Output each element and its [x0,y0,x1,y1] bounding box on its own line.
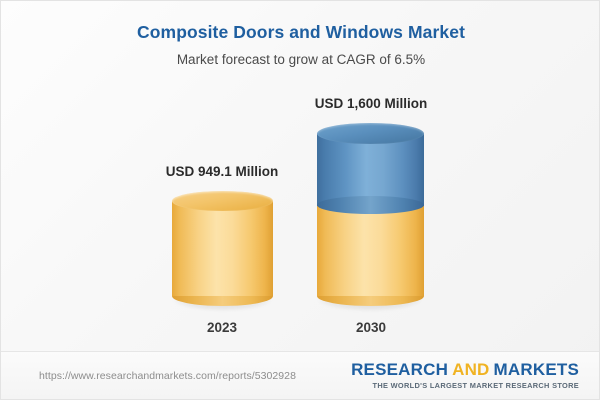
bar-value-label-2030: USD 1,600 Million [271,96,471,111]
infographic-card: Composite Doors and Windows Market Marke… [0,0,600,400]
bar-segment-base-cap [317,196,424,214]
bar-value-label-2023: USD 949.1 Million [122,164,322,179]
research-and-markets-logo[interactable]: RESEARCHANDMARKETS THE WORLD'S LARGEST M… [351,361,579,390]
bar-2023 [172,191,273,316]
chart-plot-area: USD 949.1 Million 2023 USD 1,600 Million… [1,1,600,353]
bar-top-cap [172,191,273,211]
logo-word-research: RESEARCH [351,360,448,379]
bar-segment-base [172,191,273,316]
bar-2030 [317,123,424,316]
logo-wordmark: RESEARCHANDMARKETS [351,361,579,379]
bar-category-label-2030: 2030 [291,320,451,335]
bar-segment-growth [317,123,424,316]
bar-category-label-2023: 2023 [142,320,302,335]
bar-body [172,201,273,296]
logo-tagline: THE WORLD'S LARGEST MARKET RESEARCH STOR… [351,381,579,390]
logo-word-and: AND [452,360,489,379]
logo-word-markets: MARKETS [494,360,579,379]
bar-top-cap [317,123,424,144]
footer: https://www.researchandmarkets.com/repor… [1,351,600,399]
report-url[interactable]: https://www.researchandmarkets.com/repor… [39,370,296,382]
